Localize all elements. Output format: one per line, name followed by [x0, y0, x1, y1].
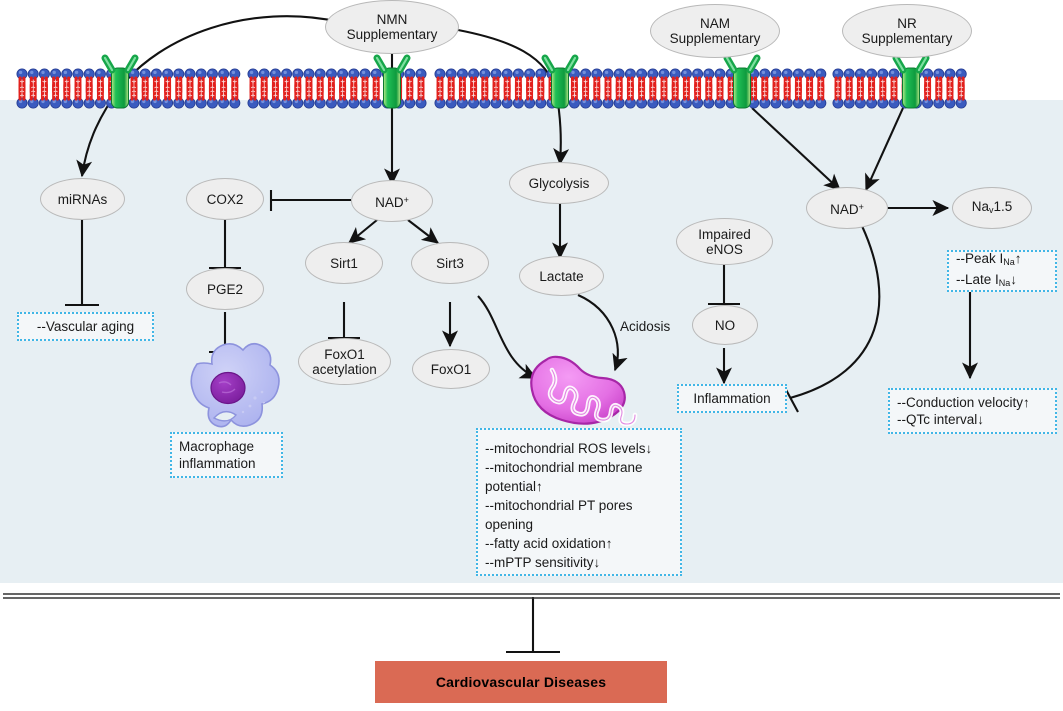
- mito-line-4: --fatty acid oxidation↑: [485, 534, 613, 553]
- nav15-label2: 1.5: [993, 199, 1012, 214]
- nad-left-label: NAD: [375, 195, 404, 210]
- outcome-sodium-current[interactable]: --Peak INa↑ --Late INa↓: [947, 250, 1057, 292]
- no-label: NO: [715, 318, 735, 333]
- lactate-label: Lactate: [539, 269, 583, 284]
- pge2-label: PGE2: [207, 282, 243, 297]
- nad-left-sup: +: [404, 195, 409, 205]
- node-nr-supplementary[interactable]: NR Supplementary: [842, 4, 972, 58]
- mito-line-2: --mitochondrial membrane potential↑: [485, 458, 673, 496]
- mito-line-3: --mitochondrial PT pores opening: [485, 496, 673, 534]
- node-foxo1[interactable]: FoxO1: [412, 349, 490, 389]
- foxo1-acet-line2: acetylation: [312, 362, 377, 377]
- node-foxo1-acetylation[interactable]: FoxO1 acetylation: [298, 338, 391, 385]
- macrophage-line2: inflammation: [179, 455, 256, 472]
- foxo1-label: FoxO1: [431, 362, 472, 377]
- membrane-lipid-tiles: [17, 69, 966, 108]
- node-nam-supplementary[interactable]: NAM Supplementary: [650, 4, 780, 58]
- enos-line2: eNOS: [706, 242, 743, 257]
- sodium-line1: --Peak INa↑: [956, 250, 1022, 271]
- outcome-mitochondrial[interactable]: --mitochondrial ROS levels↓ --mitochondr…: [476, 428, 682, 576]
- sodium-line2: --Late INa↓: [956, 271, 1017, 292]
- nmn-line2: Supplementary: [347, 27, 438, 42]
- glycolysis-label: Glycolysis: [529, 176, 590, 191]
- figure-canvas: NMN Supplementary NAM Supplementary NR S…: [0, 0, 1063, 711]
- node-impaired-enos[interactable]: Impaired eNOS: [676, 218, 773, 265]
- outcome-conduction[interactable]: --Conduction velocity↑ --QTc interval↓: [888, 388, 1057, 434]
- node-no[interactable]: NO: [692, 305, 758, 345]
- nav15-label: Na: [972, 199, 989, 214]
- outcome-macrophage-inflammation[interactable]: Macrophage inflammation: [170, 432, 283, 478]
- artwork-layer: [0, 0, 1063, 711]
- nr-line2: Supplementary: [862, 31, 953, 46]
- node-lactate[interactable]: Lactate: [519, 256, 604, 296]
- node-glycolysis[interactable]: Glycolysis: [509, 162, 609, 204]
- vascular-aging-text: --Vascular aging: [37, 318, 134, 335]
- conduction-line1: --Conduction velocity↑: [897, 394, 1030, 411]
- node-pge2[interactable]: PGE2: [186, 268, 264, 310]
- macrophage-line1: Macrophage: [179, 438, 254, 455]
- outcome-vascular-aging[interactable]: --Vascular aging: [17, 312, 154, 341]
- outcome-inflammation[interactable]: Inflammation: [677, 384, 787, 413]
- node-cox2[interactable]: COX2: [186, 178, 264, 220]
- mirnas-label: miRNAs: [58, 192, 108, 207]
- sirt1-label: Sirt1: [330, 256, 358, 271]
- cox2-label: COX2: [207, 192, 244, 207]
- enos-line1: Impaired: [698, 227, 751, 242]
- node-nad-plus-left[interactable]: NAD+: [351, 180, 433, 222]
- cardiovascular-diseases-bar[interactable]: Cardiovascular Diseases: [375, 661, 667, 703]
- conduction-line2: --QTc interval↓: [897, 411, 984, 428]
- node-sirt3[interactable]: Sirt3: [411, 242, 489, 284]
- sirt3-label: Sirt3: [436, 256, 464, 271]
- inflammation-text: Inflammation: [693, 390, 770, 407]
- nr-line1: NR: [897, 16, 917, 31]
- nam-line1: NAM: [700, 16, 730, 31]
- nmn-line1: NMN: [377, 12, 408, 27]
- node-mirnas[interactable]: miRNAs: [40, 178, 125, 220]
- node-nad-plus-right[interactable]: NAD+: [806, 187, 888, 229]
- node-sirt1[interactable]: Sirt1: [305, 242, 383, 284]
- edge-label-acidosis: Acidosis: [620, 317, 692, 335]
- nad-right-sup: +: [859, 202, 864, 212]
- foxo1-acet-line1: FoxO1: [324, 347, 365, 362]
- node-nav15[interactable]: Nav1.5: [952, 187, 1032, 229]
- nam-line2: Supplementary: [670, 31, 761, 46]
- mito-line-1: --mitochondrial ROS levels↓: [485, 439, 652, 458]
- macrophage-icon: [191, 344, 279, 427]
- node-nmn-supplementary[interactable]: NMN Supplementary: [325, 0, 459, 54]
- disease-label: Cardiovascular Diseases: [436, 674, 606, 690]
- mitochondria-icon: [531, 357, 635, 424]
- mito-line-5: --mPTP sensitivity↓: [485, 553, 600, 572]
- nad-right-label: NAD: [830, 202, 859, 217]
- acidosis-label: Acidosis: [620, 319, 670, 334]
